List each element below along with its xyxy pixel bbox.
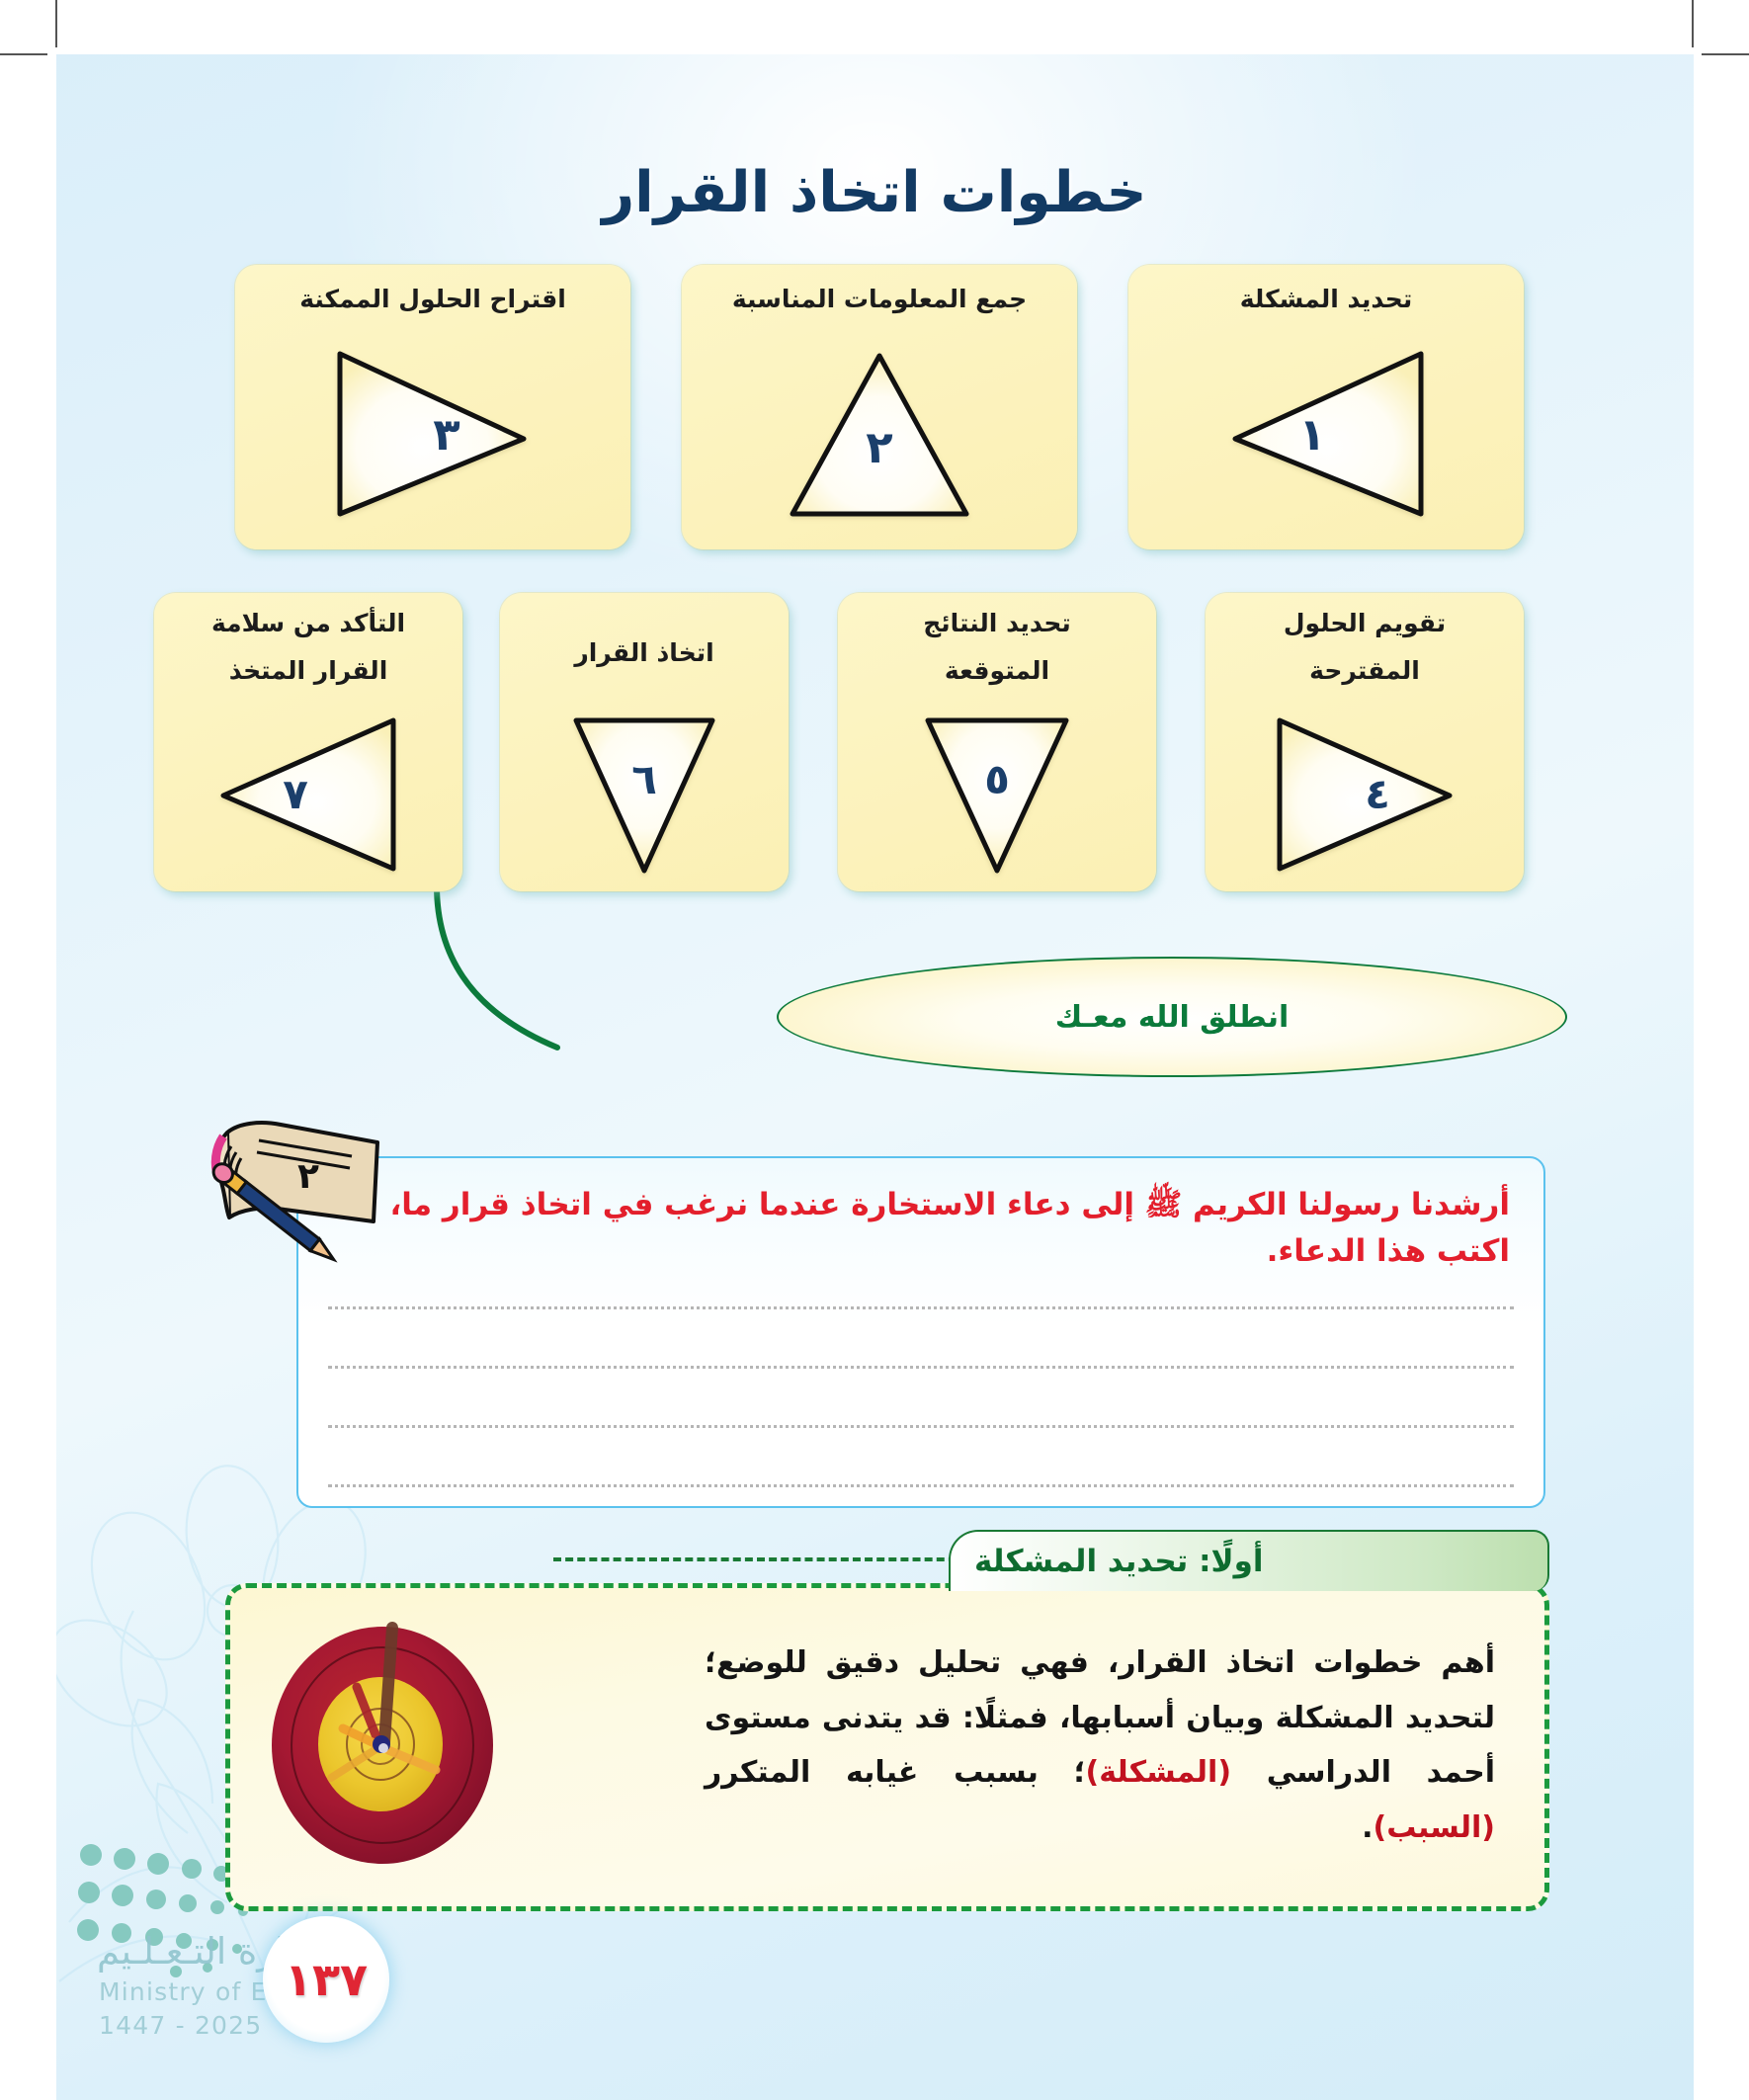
activity-write-lines[interactable] <box>328 1306 1514 1544</box>
section-header-text: أولًا: تحديد المشكلة <box>974 1544 1263 1579</box>
write-line[interactable] <box>328 1425 1514 1428</box>
triangle-left-icon <box>1219 342 1433 526</box>
step-card-5-label-line1: تحديد النتائج <box>848 607 1146 641</box>
step-card-7-label-line1: التأكد من سلامة <box>164 607 453 641</box>
page-number: ١٣٧ <box>285 1953 368 2006</box>
step-6-triangle-wrap: ٦ <box>500 712 789 878</box>
step-4-number: ٤ <box>1365 774 1390 815</box>
crop-mark-top-right-v <box>1692 0 1694 47</box>
step-4-triangle-wrap: ٤ <box>1206 712 1524 878</box>
ministry-years: 2025 - 1447 <box>99 2011 262 2040</box>
step-card-2-label: جمع المعلومات المناسبة <box>692 283 1067 317</box>
encouragement-banner: انطلق الله معـك <box>777 957 1567 1077</box>
step-5-number: ٥ <box>984 759 1010 800</box>
step-2-triangle-wrap: ٢ <box>682 340 1077 528</box>
step-1-number: ١ <box>1298 412 1325 457</box>
step-7-triangle-wrap: ٧ <box>154 712 462 878</box>
write-line[interactable] <box>328 1306 1514 1309</box>
body-highlight-cause: (السبب) <box>1373 1810 1495 1845</box>
section-body-text: أهم خطوات اتخاذ القرار، فهي تحليل دقيق ل… <box>705 1636 1495 1855</box>
step-3-triangle-wrap: ٣ <box>235 340 630 528</box>
crop-mark-top-right-h <box>1702 53 1749 55</box>
step-3-number: ٣ <box>433 412 459 457</box>
page-number-badge: ١٣٧ <box>263 1916 389 2043</box>
step-2-number: ٢ <box>866 425 892 469</box>
section-content-panel: أهم خطوات اتخاذ القرار، فهي تحليل دقيق ل… <box>225 1583 1549 1911</box>
step-card-3-label: اقتراح الحلول الممكنة <box>245 283 621 317</box>
step-card-6[interactable]: اتخاذ القرار ٦ <box>500 593 789 891</box>
step-7-number: ٧ <box>283 774 308 815</box>
step-card-7-label-line2: القرار المتخذ <box>164 654 453 689</box>
notebook-pencil-icon: ٢ <box>190 1119 387 1292</box>
write-line[interactable] <box>328 1366 1514 1369</box>
step-5-triangle-wrap: ٥ <box>838 712 1156 878</box>
step-card-6-label-line1: اتخاذ القرار <box>510 636 779 671</box>
step-card-2[interactable]: جمع المعلومات المناسبة ٢ <box>682 265 1077 549</box>
step-card-5-label-line2: المتوقعة <box>848 654 1146 689</box>
archery-target-image <box>266 1622 503 1869</box>
step-card-5[interactable]: تحديد النتائج المتوقعة ٥ <box>838 593 1156 891</box>
crop-mark-top-left-v <box>55 0 57 47</box>
textbook-page: خطوات اتخاذ القرار تحديد المشكلة ١ جمع ا… <box>0 0 1749 2100</box>
step-card-1[interactable]: تحديد المشكلة ١ <box>1128 265 1524 549</box>
step-card-4-label-line1: تقويم الحلول <box>1215 607 1514 641</box>
page-margin-left <box>0 0 56 2100</box>
step-1-triangle-wrap: ١ <box>1128 340 1524 528</box>
step-6-number: ٦ <box>631 759 657 800</box>
activity-box: ٢ أرشدنا رسولنا الكريم ﷺ إلى دعاء الاستخ… <box>296 1156 1545 1508</box>
crop-mark-top-left-h <box>0 53 47 55</box>
page-footer: وزارة التـعـلـيم Ministry of Education 2… <box>87 1922 502 2051</box>
section-header-tab: أولًا: تحديد المشكلة <box>949 1530 1549 1591</box>
page-margin-top <box>0 0 1749 54</box>
triangle-left-icon <box>209 711 407 879</box>
step-card-4[interactable]: تقويم الحلول المقترحة ٤ <box>1206 593 1524 891</box>
activity-number: ٢ <box>297 1156 319 1197</box>
body-part-2: ؛ بسبب غيابه المتكرر <box>705 1755 1086 1790</box>
encouragement-banner-text: انطلق الله معـك <box>1055 1000 1290 1035</box>
write-line[interactable] <box>328 1484 1514 1487</box>
page-title: خطوات اتخاذ القرار <box>0 160 1749 225</box>
activity-prompt: أرشدنا رسولنا الكريم ﷺ إلى دعاء الاستخار… <box>332 1182 1510 1274</box>
step-card-7[interactable]: التأكد من سلامة القرار المتخذ ٧ <box>154 593 462 891</box>
body-highlight-problem: (المشكلة) <box>1086 1755 1232 1790</box>
section-dash-connector <box>553 1557 968 1561</box>
step-card-3[interactable]: اقتراح الحلول الممكنة ٣ <box>235 265 630 549</box>
flow-connector-line <box>427 882 802 1069</box>
step-card-1-label: تحديد المشكلة <box>1138 283 1514 317</box>
body-part-3: . <box>1362 1810 1373 1845</box>
page-margin-right <box>1694 0 1749 2100</box>
step-card-4-label-line2: المقترحة <box>1215 654 1514 689</box>
